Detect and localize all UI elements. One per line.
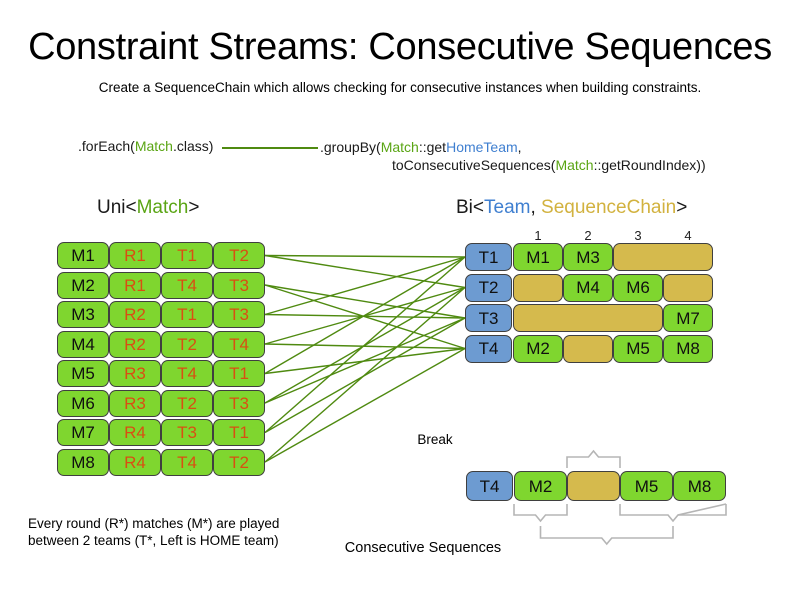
- uni-cell-match-8: M8: [57, 449, 109, 476]
- bi-column-header-1: 1: [518, 228, 558, 243]
- uni-cell-away_team-1: T2: [213, 242, 265, 269]
- bi-team-T3: T3: [465, 304, 512, 332]
- uni-cell-round-1: R1: [109, 242, 161, 269]
- bi-gap-T2-4: [663, 274, 713, 302]
- bi-slot-T1-1: M1: [513, 243, 563, 271]
- uni-cell-round-8: R4: [109, 449, 161, 476]
- uni-cell-away_team-8: T2: [213, 449, 265, 476]
- uni-cell-match-5: M5: [57, 360, 109, 387]
- uni-cell-match-1: M1: [57, 242, 109, 269]
- bi-column-header-2: 2: [568, 228, 608, 243]
- bi-gap-T3-1: [513, 304, 663, 332]
- bi-column-header-3: 3: [618, 228, 658, 243]
- uni-cell-home_team-3: T1: [161, 301, 213, 328]
- bi-slot-T4-4: M8: [663, 335, 713, 363]
- detail-slot-1: M2: [514, 471, 567, 501]
- uni-cell-home_team-4: T2: [161, 331, 213, 358]
- uni-cell-match-2: M2: [57, 272, 109, 299]
- uni-cell-home_team-5: T4: [161, 360, 213, 387]
- uni-cell-match-4: M4: [57, 331, 109, 358]
- detail-slot-4: M8: [673, 471, 726, 501]
- detail-slot-3: M5: [620, 471, 673, 501]
- uni-cell-home_team-2: T4: [161, 272, 213, 299]
- bi-gap-T1-3: [613, 243, 713, 271]
- uni-cell-home_team-8: T4: [161, 449, 213, 476]
- consecutive-sequences-text: Consecutive Sequences: [345, 540, 501, 556]
- uni-cell-away_team-6: T3: [213, 390, 265, 417]
- bi-team-T2: T2: [465, 274, 512, 302]
- uni-cell-round-2: R1: [109, 272, 161, 299]
- bi-gap-T2-1: [513, 274, 563, 302]
- bi-team-T4: T4: [465, 335, 512, 363]
- footnote: Every round (R*) matches (M*) are played…: [28, 515, 368, 549]
- footnote-line-2: between 2 teams (T*, Left is HOME team): [28, 532, 368, 549]
- bi-slot-T4-1: M2: [513, 335, 563, 363]
- detail-gap-2: [567, 471, 620, 501]
- bi-slot-T1-2: M3: [563, 243, 613, 271]
- uni-cell-match-3: M3: [57, 301, 109, 328]
- bi-slot-T4-3: M5: [613, 335, 663, 363]
- detail-team-box: T4: [466, 471, 513, 501]
- break-label: Break: [0, 432, 800, 447]
- uni-cell-round-3: R2: [109, 301, 161, 328]
- uni-cell-away_team-5: T1: [213, 360, 265, 387]
- uni-cell-match-6: M6: [57, 390, 109, 417]
- uni-cell-round-5: R3: [109, 360, 161, 387]
- bi-slot-T2-2: M4: [563, 274, 613, 302]
- footnote-line-1: Every round (R*) matches (M*) are played: [28, 515, 368, 532]
- uni-cell-round-6: R3: [109, 390, 161, 417]
- bi-slot-T2-3: M6: [613, 274, 663, 302]
- uni-cell-away_team-3: T3: [213, 301, 265, 328]
- bi-column-header-4: 4: [668, 228, 708, 243]
- bi-gap-T4-2: [563, 335, 613, 363]
- slide-canvas: Constraint Streams: Consecutive Sequence…: [0, 0, 800, 600]
- uni-cell-away_team-2: T3: [213, 272, 265, 299]
- bi-team-T1: T1: [465, 243, 512, 271]
- break-label-text: Break: [417, 432, 452, 447]
- uni-cell-home_team-1: T1: [161, 242, 213, 269]
- bi-slot-T3-4: M7: [663, 304, 713, 332]
- uni-cell-round-4: R2: [109, 331, 161, 358]
- uni-cell-home_team-6: T2: [161, 390, 213, 417]
- uni-cell-away_team-4: T4: [213, 331, 265, 358]
